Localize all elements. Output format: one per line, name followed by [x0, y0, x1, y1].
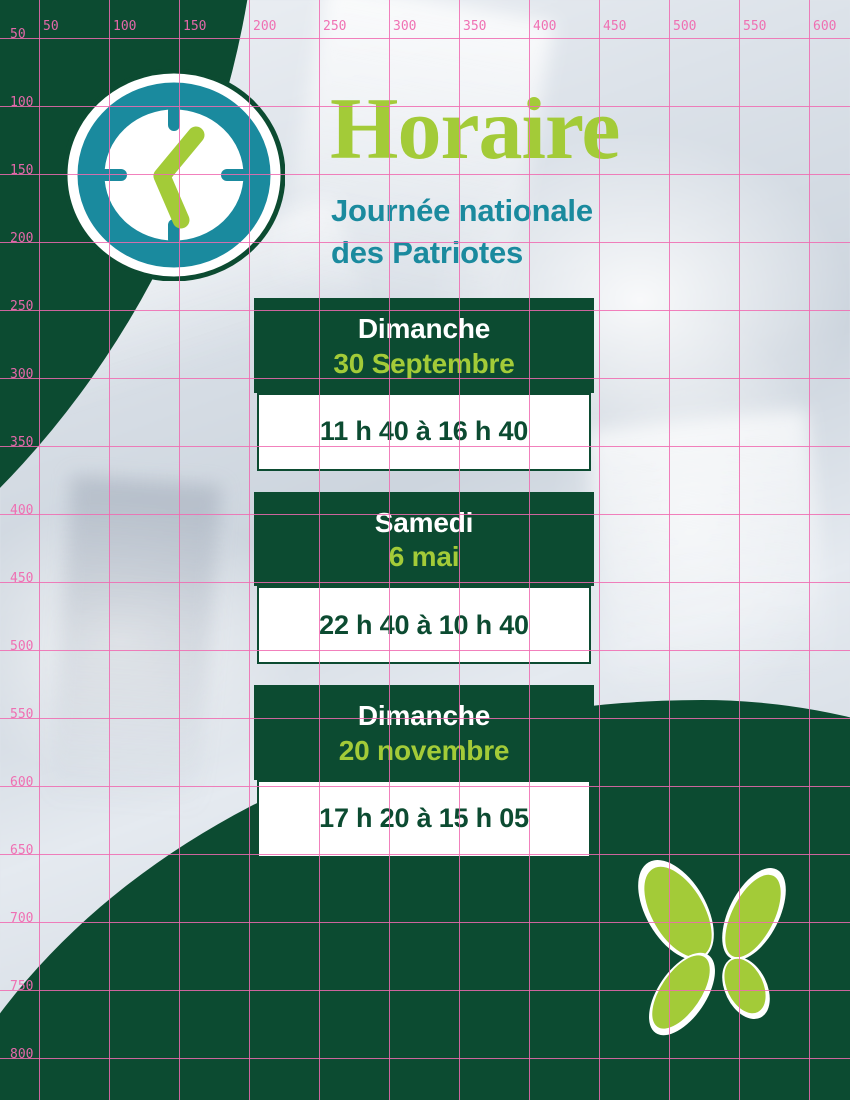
schedule-time: 17 h 20 à 15 h 05	[257, 780, 591, 858]
photo-highlight	[587, 409, 833, 691]
schedule-date: 20 novembre	[262, 733, 586, 768]
photo-highlight	[49, 475, 222, 815]
subtitle-line-1: Journée nationale	[331, 190, 593, 232]
poster-canvas: Horaire Journée nationale des Patriotes …	[0, 0, 850, 1100]
schedule-card[interactable]: Samedi 6 mai 22 h 40 à 10 h 40	[254, 492, 594, 665]
schedule-date: 6 mai	[262, 539, 586, 574]
schedule-card-header: Dimanche 30 Septembre	[254, 298, 594, 393]
schedule-day: Dimanche	[262, 312, 586, 346]
schedule-day: Samedi	[262, 506, 586, 540]
schedule-list: Dimanche 30 Septembre 11 h 40 à 16 h 40 …	[254, 298, 594, 879]
schedule-card-header: Dimanche 20 novembre	[254, 685, 594, 780]
page-subtitle: Journée nationale des Patriotes	[331, 190, 593, 274]
schedule-card[interactable]: Dimanche 30 Septembre 11 h 40 à 16 h 40	[254, 298, 594, 471]
subtitle-line-2: des Patriotes	[331, 232, 593, 274]
schedule-card[interactable]: Dimanche 20 novembre 17 h 20 à 15 h 05	[254, 685, 594, 858]
schedule-time: 11 h 40 à 16 h 40	[257, 393, 591, 471]
page-title: Horaire	[330, 86, 619, 174]
schedule-day: Dimanche	[262, 699, 586, 733]
schedule-card-header: Samedi 6 mai	[254, 492, 594, 587]
clock-icon	[63, 69, 285, 281]
schedule-time: 22 h 40 à 10 h 40	[257, 586, 591, 664]
schedule-date: 30 Septembre	[262, 346, 586, 381]
butterfly-icon	[614, 852, 814, 1052]
